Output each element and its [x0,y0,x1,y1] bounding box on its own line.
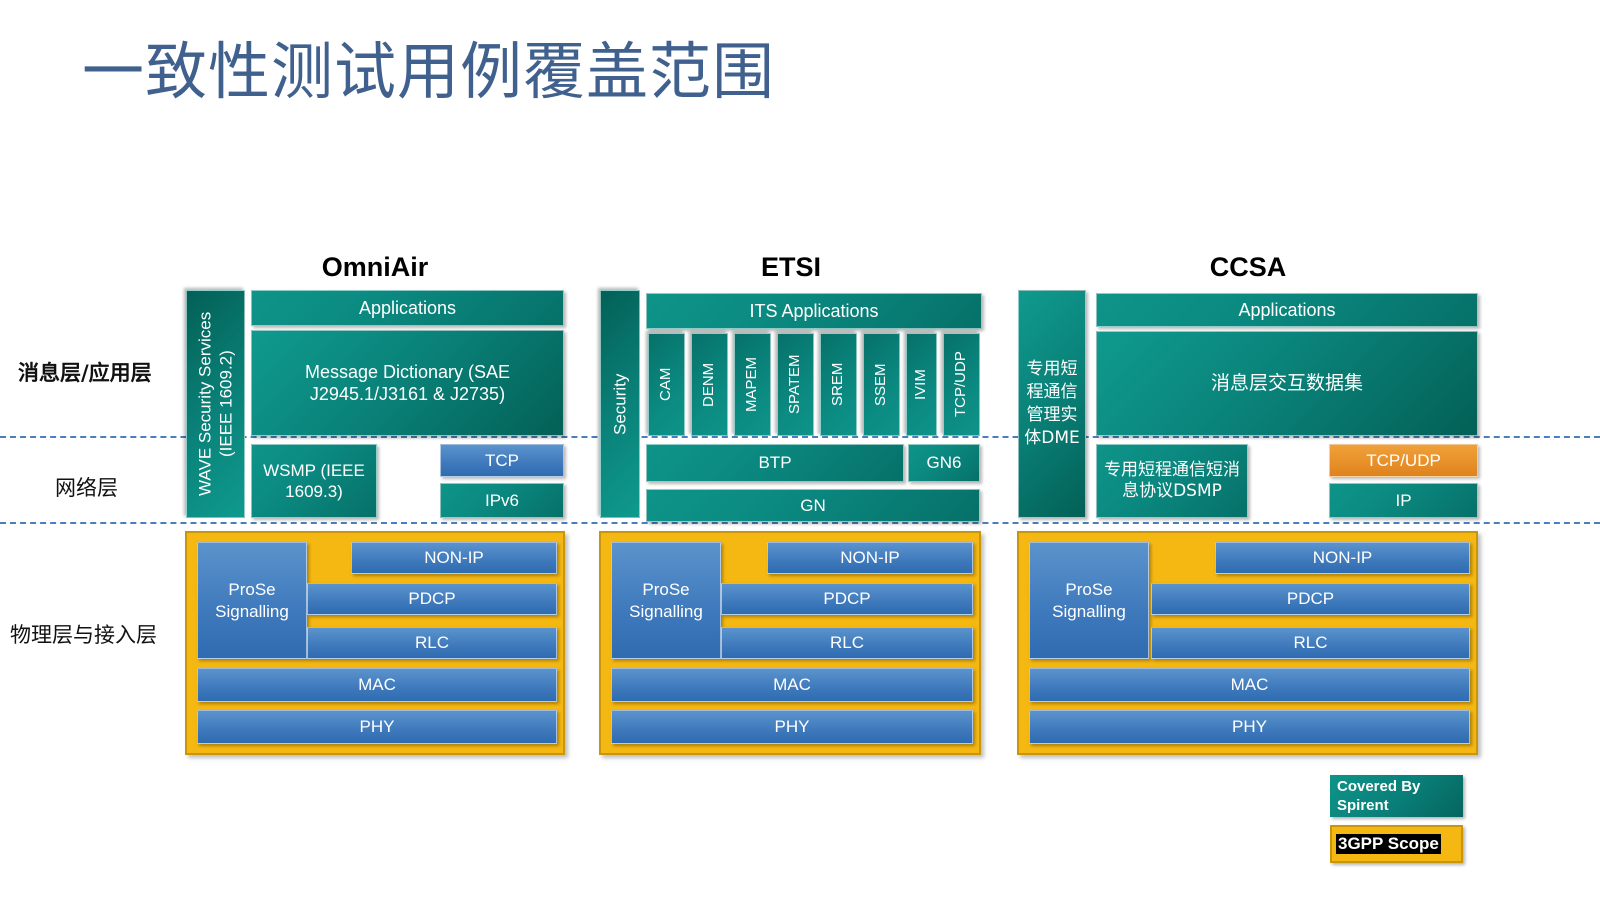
omniair-mac: MAC [197,668,557,702]
etsi-message-ssem: SSEM [863,333,900,436]
etsi-message-spatem: SPATEM [777,333,814,436]
divider-network-access [0,522,1600,524]
ccsa-3gpp-access-stack: ProSe Signalling NON-IP PDCP RLC MAC PHY [1017,531,1478,755]
legend-covered-by-spirent: Covered By Spirent [1330,775,1463,817]
omniair-phy: PHY [197,710,557,744]
row-label-message-application: 消息层/应用层 [18,357,152,387]
ccsa-message-dataset: 消息层交互数据集 [1096,331,1478,436]
etsi-security: Security [600,290,640,518]
slide-canvas: 一致性测试用例覆盖范围 消息层/应用层 网络层 物理层与接入层 OmniAir … [0,0,1600,899]
legend-3gpp-scope-label: 3GPP Scope [1336,834,1441,854]
etsi-gn6: GN6 [908,444,980,482]
etsi-gn: GN [646,489,980,522]
ccsa-dme: 专用短程通信管理实体DME [1018,290,1086,518]
legend-3gpp-scope: 3GPP Scope [1330,825,1463,863]
ccsa-mac: MAC [1029,668,1470,702]
column-header-etsi: ETSI [600,252,982,283]
column-header-omniair: OmniAir [185,252,565,283]
row-label-network: 网络层 [55,472,118,502]
omniair-3gpp-access-stack: ProSe Signalling NON-IP PDCP RLC MAC PHY [185,531,565,755]
omniair-rlc: RLC [307,627,557,659]
etsi-message-denm: DENM [691,333,728,436]
omniair-applications: Applications [251,290,564,326]
etsi-non-ip: NON-IP [767,542,973,574]
etsi-rlc: RLC [721,627,973,659]
etsi-mac: MAC [611,668,973,702]
etsi-3gpp-access-stack: ProSe Signalling NON-IP PDCP RLC MAC PHY [599,531,981,755]
omniair-ipv6: IPv6 [440,483,564,518]
omniair-wsmp: WSMP (IEEE 1609.3) [251,444,377,518]
ccsa-rlc: RLC [1151,627,1470,659]
etsi-pdcp: PDCP [721,583,973,615]
omniair-prose-signalling: ProSe Signalling [197,542,307,659]
page-title: 一致性测试用例覆盖范围 [82,40,775,105]
etsi-prose-signalling: ProSe Signalling [611,542,721,659]
etsi-its-applications: ITS Applications [646,293,982,329]
ccsa-pdcp: PDCP [1151,583,1470,615]
ccsa-prose-signalling: ProSe Signalling [1029,542,1149,659]
ccsa-ip: IP [1329,483,1478,518]
ccsa-applications: Applications [1096,293,1478,327]
etsi-message-mapem: MAPEM [734,333,771,436]
ccsa-non-ip: NON-IP [1215,542,1470,574]
ccsa-dsmp: 专用短程通信短消息协议DSMP [1096,444,1248,518]
ccsa-tcp-udp: TCP/UDP [1329,444,1478,477]
column-header-ccsa: CCSA [1018,252,1478,283]
omniair-wave-security-services: WAVE Security Services (IEEE 1609.2) [186,290,245,518]
etsi-message-tcp-udp: TCP/UDP [943,333,980,436]
omniair-tcp: TCP [440,444,564,477]
etsi-message-ivim: IVIM [906,333,937,436]
etsi-message-cam: CAM [648,333,685,436]
omniair-pdcp: PDCP [307,583,557,615]
ccsa-phy: PHY [1029,710,1470,744]
etsi-phy: PHY [611,710,973,744]
etsi-message-srem: SREM [820,333,857,436]
omniair-non-ip: NON-IP [351,542,557,574]
omniair-message-dictionary: Message Dictionary (SAE J2945.1/J3161 & … [251,330,564,436]
row-label-phy-access: 物理层与接入层 [10,619,157,649]
etsi-btp: BTP [646,444,904,482]
